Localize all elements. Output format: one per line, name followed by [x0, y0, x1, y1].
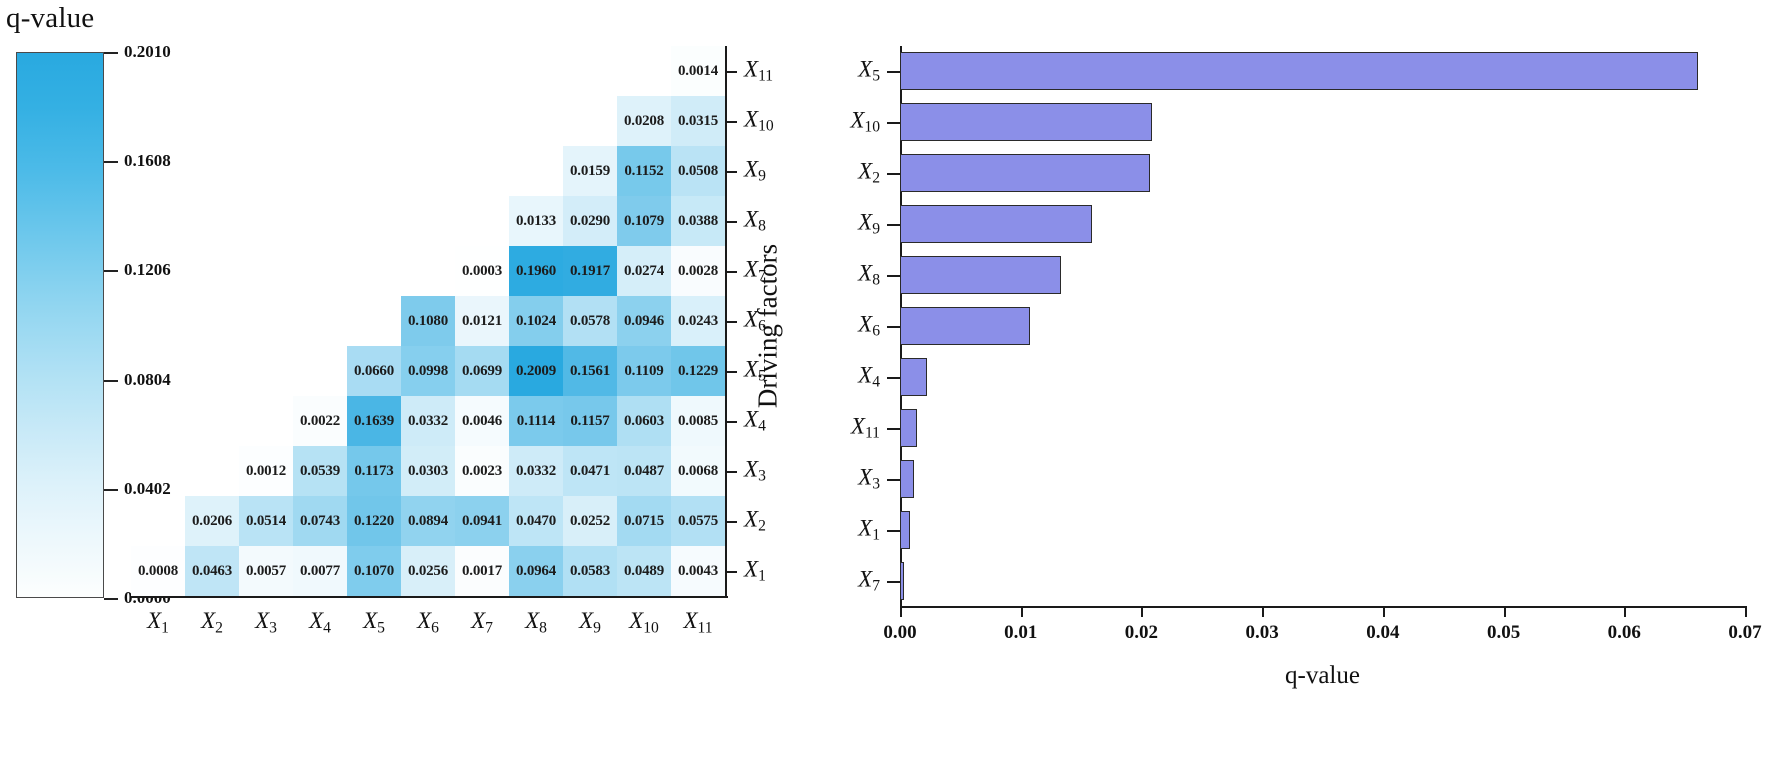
heatmap-cell: 0.0274: [617, 246, 671, 296]
heatmap-empty-cell: [455, 146, 509, 196]
heatmap-cell: 0.0252: [563, 496, 617, 546]
heatmap-row-tick: [725, 221, 737, 223]
heatmap-empty-cell: [185, 46, 239, 96]
bar-chart-x-tick: [1141, 606, 1143, 617]
bar-chart-x-tick: [1383, 606, 1385, 617]
bar-chart-x-title: q-value: [900, 662, 1745, 690]
heatmap-cell: 0.0575: [671, 496, 725, 546]
heatmap-row-tick: [725, 521, 737, 523]
heatmap-cell: 0.0206: [185, 496, 239, 546]
heatmap-empty-cell: [185, 96, 239, 146]
heatmap-column-label: X6: [417, 608, 439, 637]
heatmap-empty-cell: [347, 96, 401, 146]
heatmap-cell: 0.0028: [671, 246, 725, 296]
heatmap-row-tick: [725, 321, 737, 323]
heatmap-empty-cell: [131, 396, 185, 446]
heatmap-column-label: X3: [255, 608, 277, 637]
bar-chart-bar[interactable]: [900, 562, 904, 600]
bar-chart-y-label: X5: [858, 57, 880, 86]
bar-chart-y-label: X11: [851, 413, 880, 442]
heatmap-empty-cell: [347, 146, 401, 196]
heatmap-row: 0.10800.01210.10240.05780.09460.0243: [131, 296, 725, 346]
heatmap-row: 0.00220.16390.03320.00460.11140.11570.06…: [131, 396, 725, 446]
heatmap-cell: 0.0508: [671, 146, 725, 196]
heatmap-cell: 0.0077: [293, 546, 347, 596]
heatmap-row-tick: [725, 421, 737, 423]
bar-chart-bar[interactable]: [900, 154, 1150, 192]
heatmap-cell: 0.0743: [293, 496, 347, 546]
heatmap-empty-cell: [347, 46, 401, 96]
colorbar-tick-mark: [104, 598, 118, 600]
heatmap-empty-cell: [455, 46, 509, 96]
colorbar-tick-mark: [104, 161, 118, 163]
heatmap-cell: 0.0894: [401, 496, 455, 546]
bar-chart-bar[interactable]: [900, 256, 1061, 294]
bar-chart-row: X10: [900, 103, 1745, 141]
heatmap-cell: 0.2009: [509, 346, 563, 396]
colorbar-tick-mark: [104, 489, 118, 491]
heatmap-empty-cell: [293, 196, 347, 246]
bar-chart-x-tick-label: 0.02: [1125, 622, 1158, 644]
heatmap-empty-cell: [239, 146, 293, 196]
heatmap-empty-cell: [185, 346, 239, 396]
heatmap-cell: 0.0022: [293, 396, 347, 446]
heatmap-row-label: X1: [744, 556, 766, 585]
bar-chart-y-label: X7: [858, 566, 880, 595]
bar-chart-x-tick-label: 0.00: [883, 622, 916, 644]
bar-chart-row: X2: [900, 154, 1745, 192]
bar-chart-x-tick-label: 0.01: [1004, 622, 1037, 644]
heatmap-empty-cell: [293, 246, 347, 296]
heatmap-cell: 0.1229: [671, 346, 725, 396]
heatmap-row: 0.01590.11520.0508: [131, 146, 725, 196]
heatmap-row: 0.02060.05140.07430.12200.08940.09410.04…: [131, 496, 725, 546]
heatmap-empty-cell: [239, 196, 293, 246]
heatmap-cell: 0.0514: [239, 496, 293, 546]
heatmap-empty-cell: [401, 46, 455, 96]
heatmap-cell: 0.0539: [293, 446, 347, 496]
bar-chart-bar[interactable]: [900, 205, 1092, 243]
heatmap-empty-cell: [455, 196, 509, 246]
heatmap-cell: 0.1152: [617, 146, 671, 196]
bar-chart-y-tick: [887, 224, 900, 226]
bar-chart-row: X4: [900, 358, 1745, 396]
heatmap-row-tick: [725, 371, 737, 373]
figure-root: q-value 0.20100.16080.12060.08040.04020.…: [0, 0, 1772, 783]
heatmap-cell: 0.0068: [671, 446, 725, 496]
bar-chart-bar[interactable]: [900, 307, 1030, 345]
bar-chart-y-label: X10: [850, 108, 880, 137]
heatmap-empty-cell: [131, 346, 185, 396]
bar-chart-x-tick: [1745, 606, 1747, 617]
heatmap-cell: 0.0012: [239, 446, 293, 496]
heatmap-row-tick: [725, 571, 737, 573]
heatmap-cell: 0.0159: [563, 146, 617, 196]
heatmap-empty-cell: [239, 246, 293, 296]
heatmap-cell: 0.0332: [401, 396, 455, 446]
bar-chart-y-label: X8: [858, 260, 880, 289]
heatmap-cell: 0.0014: [671, 46, 725, 96]
heatmap-column-label: X9: [579, 608, 601, 637]
heatmap-row-label: X10: [744, 106, 774, 135]
heatmap-empty-cell: [347, 296, 401, 346]
heatmap-empty-cell: [347, 196, 401, 246]
heatmap-cell: 0.0699: [455, 346, 509, 396]
bar-chart-row: X9: [900, 205, 1745, 243]
heatmap-cell: 0.0487: [617, 446, 671, 496]
bar-chart-bar[interactable]: [900, 103, 1152, 141]
heatmap-cell: 0.0046: [455, 396, 509, 446]
heatmap-row-label: X11: [744, 56, 773, 85]
heatmap-column-label: X11: [683, 608, 712, 637]
heatmap-empty-cell: [401, 96, 455, 146]
heatmap-cell: 0.1109: [617, 346, 671, 396]
bar-chart-y-label: X2: [858, 159, 880, 188]
heatmap-empty-cell: [293, 96, 347, 146]
heatmap-empty-cell: [347, 246, 401, 296]
heatmap-cell: 0.0256: [401, 546, 455, 596]
heatmap-cell: 0.0603: [617, 396, 671, 446]
heatmap-empty-cell: [185, 396, 239, 446]
colorbar-tick-mark: [104, 270, 118, 272]
heatmap-row-label: X2: [744, 506, 766, 535]
bar-chart-x-tick: [900, 606, 902, 617]
heatmap-cell: 0.0043: [671, 546, 725, 596]
heatmap-column-label: X2: [201, 608, 223, 637]
heatmap-row: 0.0014: [131, 46, 725, 96]
heatmap-cell: 0.1114: [509, 396, 563, 446]
heatmap-cell: 0.1173: [347, 446, 401, 496]
heatmap-empty-cell: [131, 146, 185, 196]
bar-chart-row: X11: [900, 409, 1745, 447]
bar-chart-y-tick: [887, 530, 900, 532]
bar-chart-x-tick-label: 0.04: [1366, 622, 1399, 644]
bar-chart-row: X1: [900, 511, 1745, 549]
colorbar-gradient: [16, 52, 104, 598]
heatmap-cell: 0.0388: [671, 196, 725, 246]
heatmap-row: 0.01330.02900.10790.0388: [131, 196, 725, 246]
heatmap-cell: 0.0121: [455, 296, 509, 346]
heatmap-column-label: X7: [471, 608, 493, 637]
heatmap-row: 0.00030.19600.19170.02740.0028: [131, 246, 725, 296]
heatmap-cell: 0.0470: [509, 496, 563, 546]
heatmap-empty-cell: [185, 196, 239, 246]
heatmap-empty-cell: [131, 96, 185, 146]
heatmap-cell: 0.1917: [563, 246, 617, 296]
bar-chart-y-tick: [887, 173, 900, 175]
bar-chart-row: X6: [900, 307, 1745, 345]
heatmap-row-label: X9: [744, 156, 766, 185]
heatmap-empty-cell: [455, 96, 509, 146]
bar-chart-y-tick: [887, 428, 900, 430]
heatmap-cell: 0.0471: [563, 446, 617, 496]
bar-chart-bar[interactable]: [900, 460, 914, 498]
bar-chart-y-label: X4: [858, 362, 880, 391]
heatmap-cell: 0.0660: [347, 346, 401, 396]
heatmap-empty-cell: [401, 196, 455, 246]
heatmap-column-label: X10: [629, 608, 659, 637]
heatmap-horizontal-axis: [131, 596, 728, 598]
heatmap-empty-cell: [131, 46, 185, 96]
heatmap-row-tick: [725, 471, 737, 473]
heatmap-cell: 0.0003: [455, 246, 509, 296]
heatmap-row: 0.02080.0315: [131, 96, 725, 146]
heatmap-empty-cell: [293, 146, 347, 196]
bar-chart-x-tick-label: 0.06: [1608, 622, 1641, 644]
bar-chart-y-label: X6: [858, 311, 880, 340]
heatmap-cell: 0.0085: [671, 396, 725, 446]
heatmap-cell: 0.1960: [509, 246, 563, 296]
heatmap-row-tick: [725, 171, 737, 173]
bar-chart-y-tick: [887, 377, 900, 379]
heatmap-column-label: X1: [147, 608, 169, 637]
bar-chart-y-tick: [887, 479, 900, 481]
heatmap-row: 0.00120.05390.11730.03030.00230.03320.04…: [131, 446, 725, 496]
heatmap-empty-cell: [239, 96, 293, 146]
heatmap-empty-cell: [185, 246, 239, 296]
heatmap-cell: 0.0017: [455, 546, 509, 596]
bar-chart-y-tick: [887, 581, 900, 583]
heatmap-column-label: X4: [309, 608, 331, 637]
heatmap-column-label: X5: [363, 608, 385, 637]
heatmap-cell: 0.1639: [347, 396, 401, 446]
bar-chart-x-tick-label: 0.07: [1728, 622, 1761, 644]
heatmap-empty-cell: [563, 96, 617, 146]
bar-chart-panel: X5X10X2X9X8X6X4X11X3X1X7 0.000.010.020.0…: [900, 46, 1745, 606]
heatmap-cell: 0.1080: [401, 296, 455, 346]
heatmap-cell: 0.0332: [509, 446, 563, 496]
bar-chart-y-tick: [887, 326, 900, 328]
colorbar-tick-mark: [104, 380, 118, 382]
heatmap-cell: 0.0946: [617, 296, 671, 346]
heatmap-empty-cell: [239, 296, 293, 346]
heatmap-cell: 0.0208: [617, 96, 671, 146]
heatmap-empty-cell: [131, 246, 185, 296]
bar-chart-y-label: X9: [858, 209, 880, 238]
bar-chart-x-tick: [1262, 606, 1264, 617]
heatmap-grid: 0.00140.02080.03150.01590.11520.05080.01…: [131, 46, 725, 596]
heatmap-empty-cell: [509, 46, 563, 96]
bar-chart-row: X7: [900, 562, 1745, 600]
bar-chart-x-tick-label: 0.05: [1487, 622, 1520, 644]
heatmap-cell: 0.0941: [455, 496, 509, 546]
heatmap-cell: 0.0057: [239, 546, 293, 596]
heatmap-empty-cell: [401, 146, 455, 196]
bar-chart-y-label: X1: [858, 515, 880, 544]
heatmap-row-tick: [725, 71, 737, 73]
heatmap-empty-cell: [509, 146, 563, 196]
heatmap-cell: 0.1220: [347, 496, 401, 546]
heatmap-row-tick: [725, 271, 737, 273]
heatmap-row: 0.06600.09980.06990.20090.15610.11090.12…: [131, 346, 725, 396]
bar-chart-bar[interactable]: [900, 511, 910, 549]
heatmap-empty-cell: [617, 46, 671, 96]
heatmap-cell: 0.0583: [563, 546, 617, 596]
bar-chart-x-tick: [1021, 606, 1023, 617]
heatmap-empty-cell: [185, 146, 239, 196]
heatmap-cell: 0.0998: [401, 346, 455, 396]
heatmap-empty-cell: [131, 296, 185, 346]
heatmap-cell: 0.0463: [185, 546, 239, 596]
bar-chart-row: X5: [900, 52, 1745, 90]
heatmap-cell: 0.0243: [671, 296, 725, 346]
heatmap-row: 0.00080.04630.00570.00770.10700.02560.00…: [131, 546, 725, 596]
heatmap-empty-cell: [293, 346, 347, 396]
heatmap-cell: 0.0023: [455, 446, 509, 496]
bar-chart-x-tick: [1504, 606, 1506, 617]
bar-chart-bar[interactable]: [900, 409, 917, 447]
heatmap-empty-cell: [563, 46, 617, 96]
heatmap-row-tick: [725, 121, 737, 123]
heatmap-cell: 0.0315: [671, 96, 725, 146]
heatmap-empty-cell: [293, 296, 347, 346]
heatmap-row-label: X8: [744, 206, 766, 235]
bar-chart-row: X8: [900, 256, 1745, 294]
heatmap-cell: 0.1079: [617, 196, 671, 246]
heatmap-cell: 0.0964: [509, 546, 563, 596]
bar-chart-y-label: X3: [858, 464, 880, 493]
bar-chart-bar[interactable]: [900, 52, 1698, 90]
heatmap-cell: 0.0133: [509, 196, 563, 246]
heatmap-cell: 0.1070: [347, 546, 401, 596]
bar-chart-y-tick: [887, 275, 900, 277]
bar-chart-y-tick: [887, 71, 900, 73]
colorbar: 0.20100.16080.12060.08040.04020.0000: [16, 52, 104, 598]
heatmap-cell: 0.0303: [401, 446, 455, 496]
bar-chart-bar[interactable]: [900, 358, 927, 396]
bar-chart-y-tick: [887, 122, 900, 124]
bar-chart-x-tick: [1624, 606, 1626, 617]
bar-chart-x-tick-label: 0.03: [1246, 622, 1279, 644]
heatmap-empty-cell: [131, 446, 185, 496]
heatmap-empty-cell: [509, 96, 563, 146]
heatmap-cell: 0.0008: [131, 546, 185, 596]
heatmap-cell: 0.0715: [617, 496, 671, 546]
heatmap-cell: 0.0489: [617, 546, 671, 596]
colorbar-title: q-value: [6, 2, 94, 35]
heatmap-row-label: X3: [744, 456, 766, 485]
heatmap-empty-cell: [131, 196, 185, 246]
colorbar-tick-mark: [104, 52, 118, 54]
heatmap-empty-cell: [293, 46, 347, 96]
heatmap-empty-cell: [131, 496, 185, 546]
heatmap-empty-cell: [401, 246, 455, 296]
heatmap-empty-cell: [185, 296, 239, 346]
heatmap-cell: 0.0578: [563, 296, 617, 346]
heatmap-empty-cell: [239, 46, 293, 96]
bar-chart-x-axis: [900, 606, 1745, 608]
heatmap-cell: 0.1157: [563, 396, 617, 446]
heatmap-cell: 0.1561: [563, 346, 617, 396]
heatmap-empty-cell: [185, 446, 239, 496]
heatmap-empty-cell: [239, 346, 293, 396]
heatmap-empty-cell: [239, 396, 293, 446]
heatmap-column-label: X8: [525, 608, 547, 637]
heatmap-cell: 0.1024: [509, 296, 563, 346]
bar-chart-row: X3: [900, 460, 1745, 498]
heatmap-row-label: X4: [744, 406, 766, 435]
bar-chart-y-title: Driving factors: [753, 244, 784, 408]
heatmap-cell: 0.0290: [563, 196, 617, 246]
